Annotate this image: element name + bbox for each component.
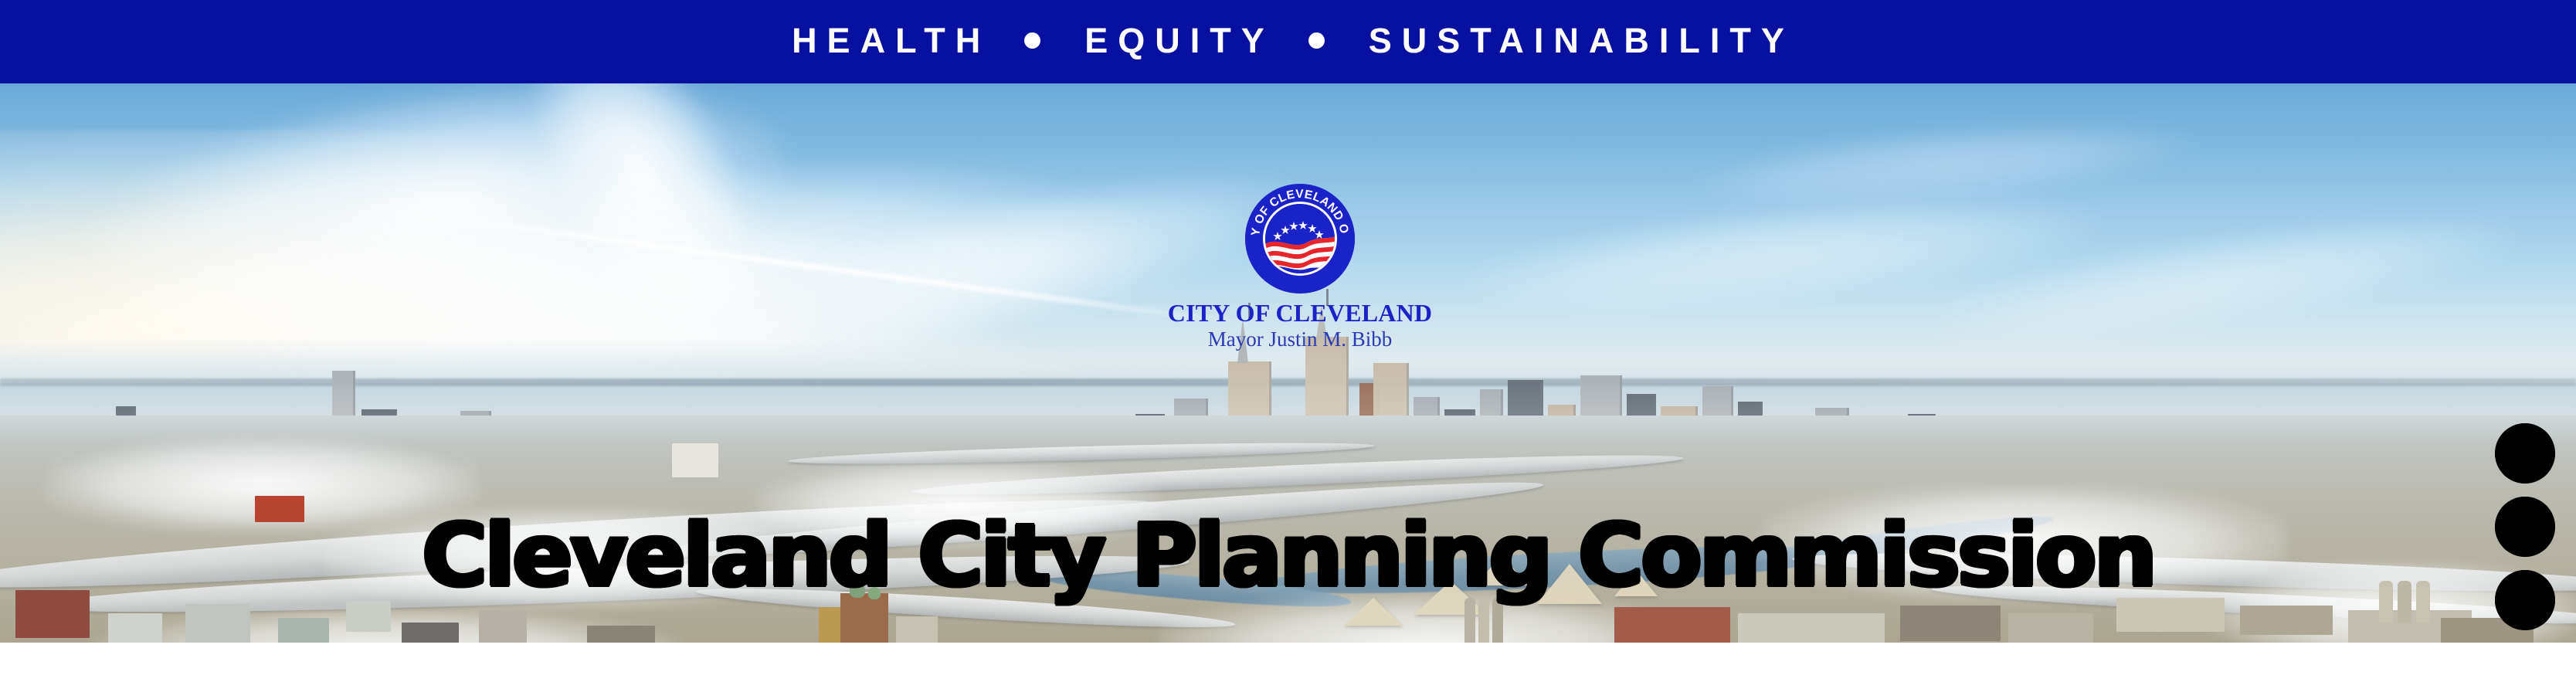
city-ground: [0, 416, 2576, 643]
youtube-icon[interactable]: [2495, 423, 2555, 484]
hero-banner: CITY OF CLEVELAND OHIO: [0, 83, 2576, 643]
seal-artwork: CITY OF CLEVELAND OHIO: [1245, 184, 1355, 293]
cleveland-aerial-photo: CITY OF CLEVELAND OHIO: [0, 83, 2576, 643]
tagline-banner: HEALTH EQUITY SUSTAINABILITY: [0, 0, 2576, 83]
tagline-word-health: HEALTH: [782, 23, 990, 58]
facebook-icon[interactable]: [2495, 570, 2555, 630]
tagline-word-equity: EQUITY: [1074, 23, 1274, 58]
logo-title: CITY OF CLEVELAND: [1153, 300, 1447, 326]
bottom-white-gutter: [0, 643, 2576, 682]
city-logo-block: CITY OF CLEVELAND OHIO: [1153, 184, 1447, 350]
logo-subtitle: Mayor Justin M. Bibb: [1153, 328, 1447, 350]
page-root: HEALTH EQUITY SUSTAINABILITY: [0, 0, 2576, 682]
city-of-cleveland-seal-icon: CITY OF CLEVELAND OHIO: [1245, 184, 1355, 293]
tagline-inner: HEALTH EQUITY SUSTAINABILITY: [782, 23, 1794, 58]
social-links-rail: [2495, 423, 2557, 630]
bullet-dot-icon: [1308, 32, 1325, 49]
instagram-icon[interactable]: [2495, 497, 2555, 557]
bullet-dot-icon: [1024, 32, 1040, 49]
tagline-word-sustainability: SUSTAINABILITY: [1359, 23, 1794, 58]
